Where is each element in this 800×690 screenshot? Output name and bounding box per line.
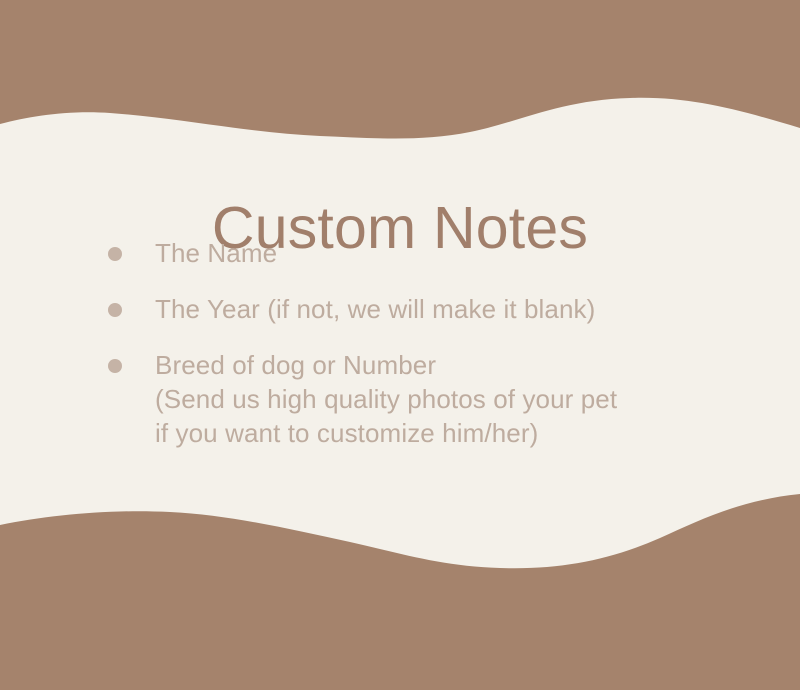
list-item: The Name bbox=[0, 236, 800, 270]
bullet-dot-icon bbox=[108, 247, 122, 261]
list-item-line: (Send us high quality photos of your pet bbox=[155, 382, 800, 416]
list-item-line: Breed of dog or Number bbox=[155, 348, 800, 382]
list-item-line: if you want to customize him/her) bbox=[155, 416, 800, 450]
list-item: The Year (if not, we will make it blank) bbox=[0, 292, 800, 326]
custom-notes-card: Custom Notes The Name The Year (if not, … bbox=[0, 0, 800, 690]
custom-notes-list: The Name The Year (if not, we will make … bbox=[0, 236, 800, 450]
bullet-dot-icon bbox=[108, 359, 122, 373]
list-item-line: The Year (if not, we will make it blank) bbox=[155, 292, 800, 326]
bullet-dot-icon bbox=[108, 303, 122, 317]
list-item: Breed of dog or Number (Send us high qua… bbox=[0, 348, 800, 450]
list-item-line: The Name bbox=[155, 236, 800, 270]
card-content: Custom Notes The Name The Year (if not, … bbox=[0, 0, 800, 690]
